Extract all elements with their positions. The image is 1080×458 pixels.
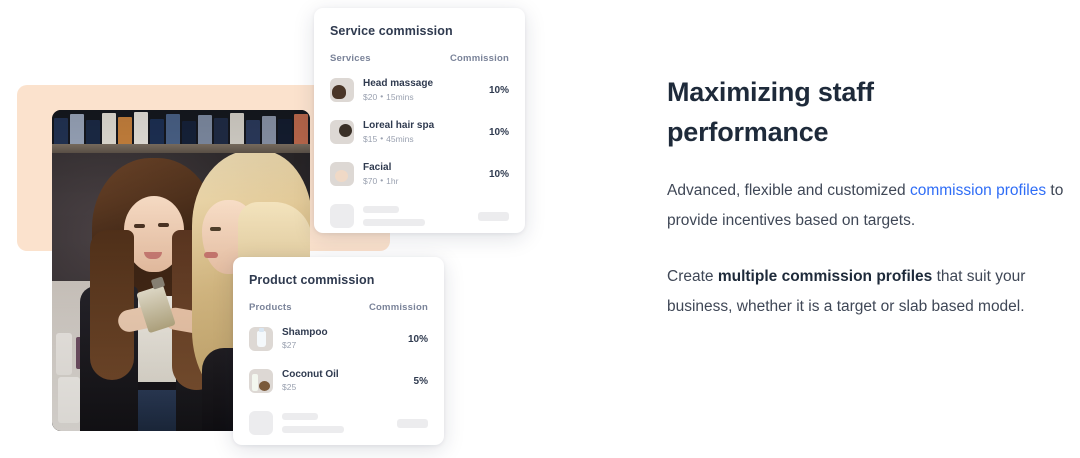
service-price: $70 [363,176,377,186]
service-name: Loreal hair spa [363,119,489,132]
skeleton-bar [282,413,318,420]
paragraph-two-bold: multiple commission profiles [718,268,932,285]
commission-profiles-link[interactable]: commission profiles [910,182,1046,199]
product-commission-value: 10% [408,334,428,345]
product-placeholder-row [249,406,428,440]
service-placeholder-row [330,199,509,233]
paragraph-one-before: Advanced, flexible and customized [667,182,910,199]
table-row[interactable]: Facial $70•1hr 10% [330,157,509,191]
service-card-title: Service commission [330,24,509,38]
row-meta: Facial $70•1hr [354,161,489,188]
copy-column: Maximizing staff performance Advanced, f… [667,72,1067,322]
row-meta: Head massage $20•15mins [354,77,489,104]
service-column-headers: Services Commission [330,53,509,64]
bullet-separator: • [380,90,383,103]
service-sub: $70•1hr [363,174,489,188]
service-column-item: Services [330,53,371,64]
product-price: $27 [282,339,408,352]
skeleton-thumb [330,204,354,228]
skeleton-text [354,206,478,226]
service-duration: 45mins [386,134,413,144]
shampoo-icon [249,327,273,351]
bullet-separator: • [380,174,383,187]
service-sub: $15•45mins [363,132,489,146]
service-commission-card: Service commission Services Commission H… [314,8,525,233]
service-commission-value: 10% [489,85,509,96]
facial-thumb [330,162,354,186]
table-row[interactable]: Coconut Oil $25 5% [249,364,428,398]
service-column-commission: Commission [450,53,509,64]
coconut-oil-thumb [249,369,273,393]
hair-spa-thumb [330,120,354,144]
skeleton-bar [282,426,344,433]
product-commission-card: Product commission Products Commission S… [233,257,444,445]
skeleton-thumb [249,411,273,435]
service-price: $15 [363,134,377,144]
row-meta: Shampoo $27 [273,326,408,352]
skeleton-bar [363,219,425,226]
product-price: $25 [282,381,414,394]
service-name: Facial [363,161,489,174]
service-duration: 1hr [386,176,398,186]
product-name: Shampoo [282,326,408,339]
service-duration: 15mins [386,92,413,102]
paragraph-one: Advanced, flexible and customized commis… [667,176,1067,236]
skeleton-bar [397,419,428,428]
paragraph-two-before: Create [667,268,718,285]
table-row[interactable]: Head massage $20•15mins 10% [330,73,509,107]
service-commission-value: 10% [489,169,509,180]
service-price: $20 [363,92,377,102]
skeleton-text [273,413,397,433]
service-name: Head massage [363,77,489,90]
page-title: Maximizing staff performance [667,72,967,152]
paragraph-two: Create multiple commission profiles that… [667,262,1067,322]
table-row[interactable]: Shampoo $27 10% [249,322,428,356]
head-massage-thumb [330,78,354,102]
row-meta: Loreal hair spa $15•45mins [354,119,489,146]
product-card-title: Product commission [249,273,428,287]
visual-composition: Service commission Services Commission H… [0,0,640,458]
table-row[interactable]: Loreal hair spa $15•45mins 10% [330,115,509,149]
row-meta: Coconut Oil $25 [273,368,414,394]
product-name: Coconut Oil [282,368,414,381]
service-sub: $20•15mins [363,90,489,104]
skeleton-bar [478,212,509,221]
skeleton-bar [363,206,399,213]
product-column-commission: Commission [369,302,428,313]
product-column-item: Products [249,302,292,313]
bullet-separator: • [380,132,383,145]
product-column-headers: Products Commission [249,302,428,313]
service-commission-value: 10% [489,127,509,138]
promo-section: Service commission Services Commission H… [0,0,1080,458]
product-commission-value: 5% [414,376,428,387]
